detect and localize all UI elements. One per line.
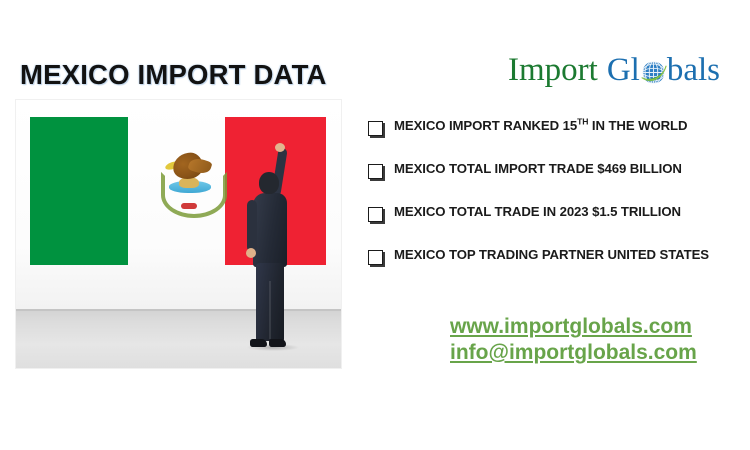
bullet-text: MEXICO TOTAL TRADE IN 2023 $1.5 TRILLION xyxy=(394,204,681,220)
checkbox-square-bullet-icon xyxy=(368,250,383,265)
bullet-text: MEXICO IMPORT RANKED 15TH IN THE WORLD xyxy=(394,118,687,134)
left-panel: MEXICO IMPORT DATA xyxy=(0,0,360,450)
ribbon-shape xyxy=(181,203,197,209)
email-link[interactable]: info@importglobals.com xyxy=(450,340,697,366)
person-lowered-arm xyxy=(247,200,257,252)
checkbox-square-bullet-icon xyxy=(368,121,383,136)
flag-green-band xyxy=(30,117,128,264)
person-legs xyxy=(256,263,284,341)
mexican-coat-of-arms-icon xyxy=(157,148,223,214)
bullet-list: MEXICO IMPORT RANKED 15TH IN THE WORLD M… xyxy=(368,118,750,290)
list-item: MEXICO TOTAL TRADE IN 2023 $1.5 TRILLION xyxy=(368,204,750,247)
bullet-text: MEXICO TOTAL IMPORT TRADE $469 BILLION xyxy=(394,161,682,177)
list-item: MEXICO IMPORT RANKED 15TH IN THE WORLD xyxy=(368,118,750,161)
checkbox-square-bullet-icon xyxy=(368,207,383,222)
globe-icon xyxy=(640,59,667,86)
person-raised-hand xyxy=(275,143,285,152)
person-figure xyxy=(245,146,305,339)
person-shoe-right xyxy=(269,339,286,347)
brand-logo-bals-text: bals xyxy=(667,54,720,87)
person-head xyxy=(259,172,279,194)
brand-logo[interactable]: Import Gl bals xyxy=(508,54,720,87)
website-link[interactable]: www.importglobals.com xyxy=(450,314,697,340)
brand-logo-import-text: Import xyxy=(508,54,598,87)
person-shoe-left xyxy=(250,339,267,347)
page-title: MEXICO IMPORT DATA xyxy=(20,59,327,91)
bullet-text: MEXICO TOP TRADING PARTNER UNITED STATES xyxy=(394,247,709,263)
right-panel: Import Gl bals MEXICO IMPO xyxy=(360,0,750,450)
brand-logo-gl-text: Gl xyxy=(607,54,640,87)
mexico-flag-wall-photo xyxy=(16,100,341,368)
list-item: MEXICO TOP TRADING PARTNER UNITED STATES xyxy=(368,247,750,290)
list-item: MEXICO TOTAL IMPORT TRADE $469 BILLION xyxy=(368,161,750,204)
person-torso xyxy=(253,193,287,267)
person-lowered-hand xyxy=(246,248,256,258)
checkbox-square-bullet-icon xyxy=(368,164,383,179)
contact-block: www.importglobals.com info@importglobals… xyxy=(450,314,697,366)
